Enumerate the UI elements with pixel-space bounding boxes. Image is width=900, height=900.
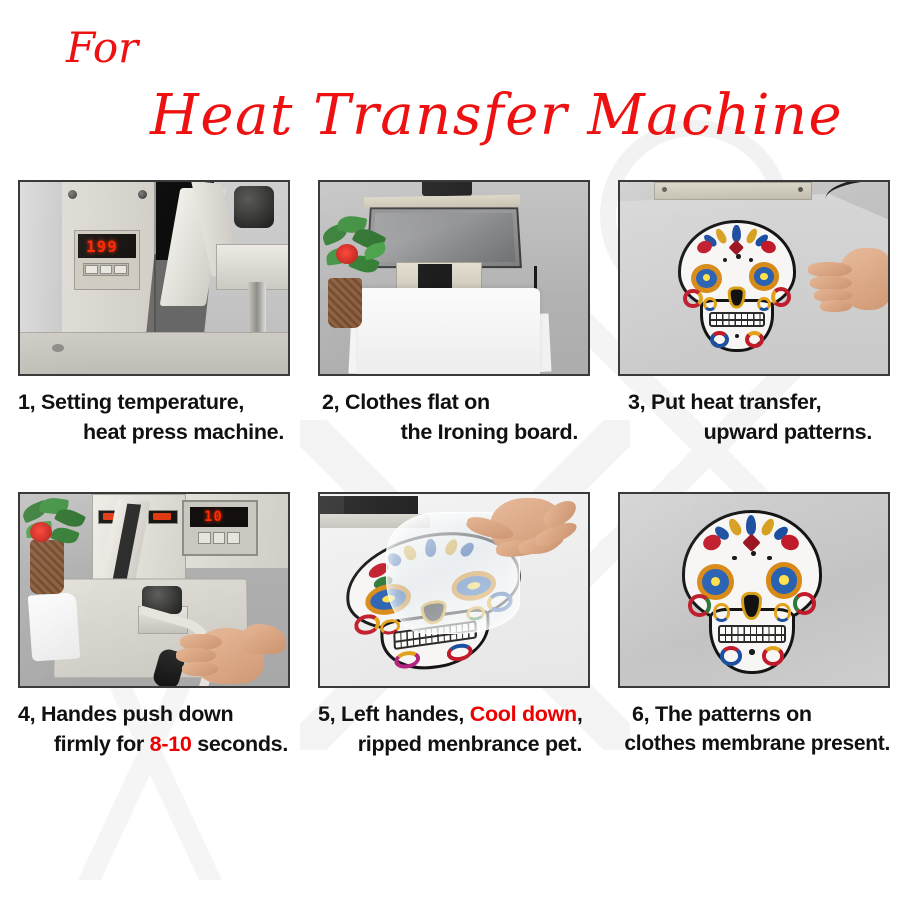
step-5-caption: 5, Left handes, Cool down, ripped menbra… (318, 699, 590, 759)
step-5-caption-line2: ripped menbrance pet. (318, 729, 590, 759)
step-4-caption-line2: firmly for 8-10 seconds. (18, 729, 290, 759)
step-5-l1-pre: 5, Left handes, (318, 702, 470, 726)
step-4-l2-post: seconds. (192, 732, 288, 756)
step-card-1: 199 1, Setting temperature, heat press m… (18, 180, 290, 447)
led-value: 199 (86, 239, 118, 255)
step-2-caption-line2: the Ironing board. (318, 417, 590, 447)
step-3-caption: 3, Put heat transfer, upward patterns. (618, 387, 890, 447)
step-5-cooldown-highlight: Cool down (470, 702, 577, 726)
step-3-photo (618, 180, 890, 376)
step-6-caption-line2: clothes membrane present. (606, 729, 890, 759)
step-6-photo (618, 492, 890, 688)
led-display-inset: 10 (190, 507, 248, 527)
step-card-3: 3, Put heat transfer, upward patterns. (618, 180, 890, 447)
step-4-l2-pre: firmly for (54, 732, 150, 756)
led-display: 199 (78, 234, 136, 258)
steps-grid: 199 1, Setting temperature, heat press m… (0, 180, 900, 804)
step-2-photo (318, 180, 590, 376)
step-1-caption: 1, Setting temperature, heat press machi… (18, 387, 290, 447)
steps-row-bottom: 10 (0, 492, 900, 804)
temperature-controller: 199 (74, 230, 140, 290)
rose-icon (336, 244, 358, 264)
controller-buttons-inset[interactable] (198, 532, 240, 544)
hand-icon (808, 244, 890, 318)
step-4-photo: 10 (18, 492, 290, 688)
hand-icon (462, 492, 578, 566)
step-1-caption-line1: 1, Setting temperature, (18, 387, 290, 417)
ironing-board (358, 288, 540, 374)
instruction-infographic: For Heat Transfer Machine (0, 0, 900, 900)
temperature-controller-inset: 10 (182, 500, 258, 556)
step-2-caption-line1: 2, Clothes flat on (318, 387, 590, 417)
step-4-duration-highlight: 8-10 (150, 732, 192, 756)
step-1-caption-line2: heat press machine. (18, 417, 290, 447)
step-4-caption-line1: 4, Handes push down (18, 699, 290, 729)
step-3-caption-line2: upward patterns. (618, 417, 890, 447)
page-title: Heat Transfer Machine (150, 83, 843, 148)
hand-icon (176, 622, 288, 686)
step-4-caption: 4, Handes push down firmly for 8-10 seco… (18, 699, 290, 759)
controller-buttons[interactable] (83, 263, 129, 276)
step-card-2: 2, Clothes flat on the Ironing board. (318, 180, 590, 447)
step-6-caption-line1: 6, The patterns on (618, 699, 890, 729)
step-1-photo: 199 (18, 180, 290, 376)
vase (30, 540, 64, 594)
header: For Heat Transfer Machine (0, 0, 900, 175)
header-for-label: For (66, 23, 138, 72)
heat-platen (366, 207, 522, 268)
step-card-6: 6, The patterns on clothes membrane pres… (618, 492, 890, 759)
step-6-caption: 6, The patterns on clothes membrane pres… (618, 699, 890, 759)
step-5-caption-line1: 5, Left handes, Cool down, (318, 699, 590, 729)
sugar-skull-icon (678, 220, 796, 352)
led-value-inset: 10 (204, 510, 223, 524)
vase (328, 278, 362, 328)
step-2-caption: 2, Clothes flat on the Ironing board. (318, 387, 590, 447)
rose-icon (30, 522, 52, 542)
step-card-5: 5, Left handes, Cool down, ripped menbra… (318, 492, 590, 759)
step-5-photo (318, 492, 590, 688)
steps-row-top: 199 1, Setting temperature, heat press m… (0, 180, 900, 492)
step-card-4: 10 (18, 492, 290, 759)
step-3-caption-line1: 3, Put heat transfer, (618, 387, 890, 417)
step-5-l1-post: , (577, 702, 583, 726)
sugar-skull-icon (682, 510, 822, 674)
